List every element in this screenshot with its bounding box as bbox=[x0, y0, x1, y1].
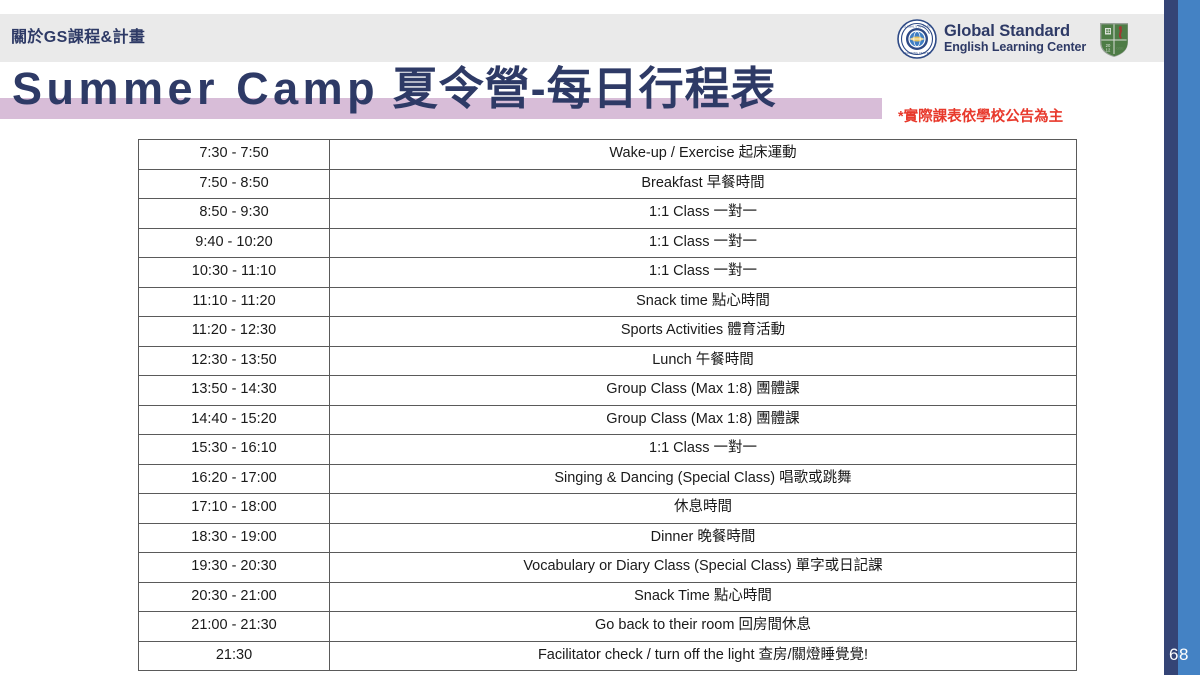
schedule-activity-cell: Group Class (Max 1:8) 團體課 bbox=[330, 405, 1077, 435]
schedule-time-cell: 17:10 - 18:00 bbox=[139, 494, 330, 524]
schedule-activity-cell: 1:1 Class 一對一 bbox=[330, 435, 1077, 465]
page-title-cjk: 夏令營-每日行程表 bbox=[379, 63, 777, 114]
page-title: Summer Camp 夏令營-每日行程表 bbox=[12, 66, 777, 111]
schedule-activity-cell: Vocabulary or Diary Class (Special Class… bbox=[330, 553, 1077, 583]
schedule-activity-cell: Breakfast 早餐時間 bbox=[330, 169, 1077, 199]
schedule-activity-cell: Group Class (Max 1:8) 團體課 bbox=[330, 376, 1077, 406]
schedule-activity-cell: 1:1 Class 一對一 bbox=[330, 199, 1077, 229]
schedule-table-body: 7:30 - 7:50Wake-up / Exercise 起床運動7:50 -… bbox=[139, 140, 1077, 671]
schedule-time-cell: 19:30 - 20:30 bbox=[139, 553, 330, 583]
schedule-time-cell: 7:30 - 7:50 bbox=[139, 140, 330, 170]
schedule-activity-cell: Snack Time 點心時間 bbox=[330, 582, 1077, 612]
table-row: 13:50 - 14:30Group Class (Max 1:8) 團體課 bbox=[139, 376, 1077, 406]
table-row: 8:50 - 9:301:1 Class 一對一 bbox=[139, 199, 1077, 229]
right-accent-bar-blue bbox=[1178, 0, 1200, 675]
brand-title: Global Standard bbox=[944, 23, 1086, 41]
schedule-time-cell: 10:30 - 11:10 bbox=[139, 258, 330, 288]
schedule-activity-cell: 休息時間 bbox=[330, 494, 1077, 524]
schedule-activity-cell: Wake-up / Exercise 起床運動 bbox=[330, 140, 1077, 170]
schedule-time-cell: 13:50 - 14:30 bbox=[139, 376, 330, 406]
schedule-activity-cell: Sports Activities 體育活動 bbox=[330, 317, 1077, 347]
svg-text:LEARNING CENTER: LEARNING CENTER bbox=[903, 51, 930, 55]
table-row: 11:10 - 11:20Snack time 點心時間 bbox=[139, 287, 1077, 317]
table-row: 21:30Facilitator check / turn off the li… bbox=[139, 641, 1077, 671]
schedule-time-cell: 12:30 - 13:50 bbox=[139, 346, 330, 376]
brand-text: Global Standard English Learning Center bbox=[944, 23, 1086, 54]
table-row: 20:30 - 21:00Snack Time 點心時間 bbox=[139, 582, 1077, 612]
schedule-activity-cell: Go back to their room 回房間休息 bbox=[330, 612, 1077, 642]
table-row: 7:50 - 8:50Breakfast 早餐時間 bbox=[139, 169, 1077, 199]
schedule-time-cell: 18:30 - 19:00 bbox=[139, 523, 330, 553]
schedule-time-cell: 21:00 - 21:30 bbox=[139, 612, 330, 642]
gs-shield-crest-icon: 20 12 GSE bbox=[1097, 19, 1131, 59]
table-row: 18:30 - 19:00Dinner 晚餐時間 bbox=[139, 523, 1077, 553]
table-row: 19:30 - 20:30Vocabulary or Diary Class (… bbox=[139, 553, 1077, 583]
table-row: 7:30 - 7:50Wake-up / Exercise 起床運動 bbox=[139, 140, 1077, 170]
table-row: 9:40 - 10:201:1 Class 一對一 bbox=[139, 228, 1077, 258]
schedule-time-cell: 7:50 - 8:50 bbox=[139, 169, 330, 199]
svg-text:GSE: GSE bbox=[1116, 47, 1124, 51]
breadcrumb: 關於GS課程&計畫 bbox=[11, 30, 145, 46]
schedule-time-cell: 9:40 - 10:20 bbox=[139, 228, 330, 258]
schedule-activity-cell: 1:1 Class 一對一 bbox=[330, 228, 1077, 258]
schedule-activity-cell: Facilitator check / turn off the light 查… bbox=[330, 641, 1077, 671]
table-row: 15:30 - 16:101:1 Class 一對一 bbox=[139, 435, 1077, 465]
right-accent-bar-navy bbox=[1164, 0, 1178, 675]
slide-number: 68 bbox=[1158, 645, 1200, 665]
table-row: 10:30 - 11:101:1 Class 一對一 bbox=[139, 258, 1077, 288]
table-row: 11:20 - 12:30Sports Activities 體育活動 bbox=[139, 317, 1077, 347]
schedule-time-cell: 21:30 bbox=[139, 641, 330, 671]
schedule-time-cell: 14:40 - 15:20 bbox=[139, 405, 330, 435]
schedule-time-cell: 8:50 - 9:30 bbox=[139, 199, 330, 229]
table-row: 12:30 - 13:50Lunch 午餐時間 bbox=[139, 346, 1077, 376]
schedule-activity-cell: Lunch 午餐時間 bbox=[330, 346, 1077, 376]
brand-subtitle: English Learning Center bbox=[944, 41, 1086, 55]
daily-schedule-table: 7:30 - 7:50Wake-up / Exercise 起床運動7:50 -… bbox=[138, 139, 1077, 671]
table-row: 21:00 - 21:30Go back to their room 回房間休息 bbox=[139, 612, 1077, 642]
table-row: 17:10 - 18:00休息時間 bbox=[139, 494, 1077, 524]
gs-globe-seal-icon: GLOBAL STANDARD LEARNING CENTER bbox=[897, 19, 937, 59]
schedule-activity-cell: Snack time 點心時間 bbox=[330, 287, 1077, 317]
page-title-latin: Summer Camp bbox=[12, 63, 379, 114]
schedule-time-cell: 16:20 - 17:00 bbox=[139, 464, 330, 494]
brand-lockup: GLOBAL STANDARD LEARNING CENTER Global S… bbox=[897, 18, 1131, 60]
schedule-time-cell: 11:10 - 11:20 bbox=[139, 287, 330, 317]
svg-text:12: 12 bbox=[1106, 48, 1111, 53]
schedule-activity-cell: Dinner 晚餐時間 bbox=[330, 523, 1077, 553]
title-disclaimer-note: *實際課表依學校公告為主 bbox=[898, 110, 1063, 125]
table-row: 14:40 - 15:20Group Class (Max 1:8) 團體課 bbox=[139, 405, 1077, 435]
table-row: 16:20 - 17:00Singing & Dancing (Special … bbox=[139, 464, 1077, 494]
schedule-time-cell: 20:30 - 21:00 bbox=[139, 582, 330, 612]
schedule-activity-cell: Singing & Dancing (Special Class) 唱歌或跳舞 bbox=[330, 464, 1077, 494]
schedule-time-cell: 15:30 - 16:10 bbox=[139, 435, 330, 465]
schedule-time-cell: 11:20 - 12:30 bbox=[139, 317, 330, 347]
svg-text:GLOBAL STANDARD: GLOBAL STANDARD bbox=[903, 24, 931, 28]
schedule-activity-cell: 1:1 Class 一對一 bbox=[330, 258, 1077, 288]
